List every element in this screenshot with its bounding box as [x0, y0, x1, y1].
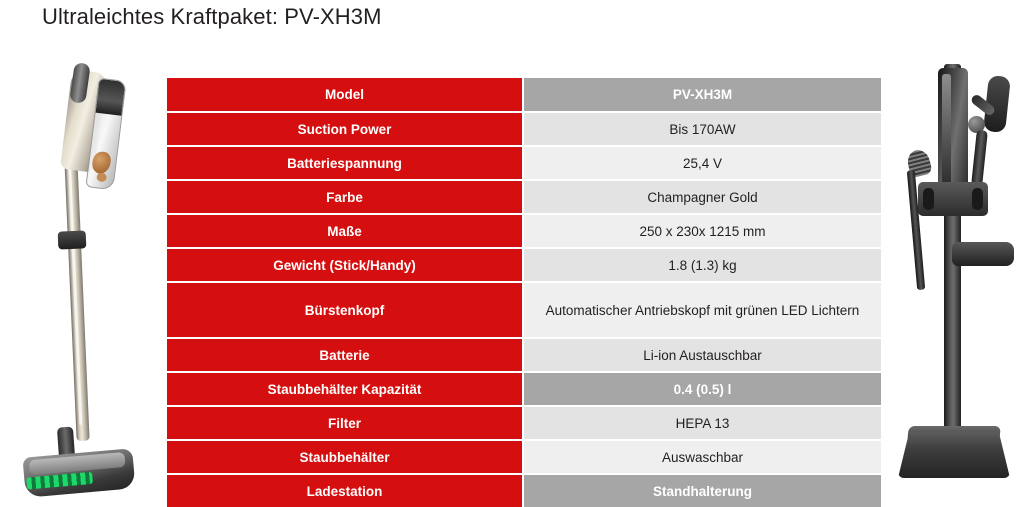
table-row: Model PV-XH3M: [167, 78, 881, 111]
accessory-mini-brush-head: [952, 242, 1014, 266]
row-value: Li-ion Austauschbar: [524, 339, 881, 371]
row-value: Automatischer Antriebskopf mit grünen LE…: [524, 283, 881, 337]
table-row: Staubbehälter Auswaschbar: [167, 441, 881, 473]
table-row: Bürstenkopf Automatischer Antriebskopf m…: [167, 283, 881, 337]
row-label: Model: [167, 78, 524, 111]
row-label: Suction Power: [167, 113, 524, 145]
motorized-brush-head: [22, 448, 135, 497]
row-label: Farbe: [167, 181, 524, 213]
row-label: Bürstenkopf: [167, 283, 524, 337]
row-label: Maße: [167, 215, 524, 247]
stick-vacuum-illustration: [18, 55, 148, 495]
row-value: PV-XH3M: [524, 78, 881, 111]
row-value: 0.4 (0.5) l: [524, 373, 881, 405]
accessory-arm-lower: [971, 130, 988, 187]
row-value: HEPA 13: [524, 407, 881, 439]
stand-bracket-clip-right: [972, 188, 983, 210]
table-row: Gewicht (Stick/Handy) 1.8 (1.3) kg: [167, 249, 881, 281]
stand-base: [898, 432, 1010, 478]
table-row: Ladestation Standhalterung: [167, 475, 881, 507]
vacuum-wand-tube: [64, 151, 90, 441]
table-row: Maße 250 x 230x 1215 mm: [167, 215, 881, 247]
table-row: Batterie Li-ion Austauschbar: [167, 339, 881, 371]
stand-bracket-clip-left: [923, 188, 934, 210]
row-value: 25,4 V: [524, 147, 881, 179]
product-image-right: [881, 0, 1024, 496]
table-row: Suction Power Bis 170AW: [167, 113, 881, 145]
docked-vacuum-slot: [942, 74, 951, 184]
dust-bin-debris-small: [96, 172, 107, 182]
dust-bin-cap: [96, 79, 126, 116]
row-label: Batterie: [167, 339, 524, 371]
charging-stand-illustration: [882, 34, 1020, 496]
table-row: Filter HEPA 13: [167, 407, 881, 439]
brush-head-top-cover: [29, 452, 126, 475]
table-row: Batteriespannung 25,4 V: [167, 147, 881, 179]
row-label: Batteriespannung: [167, 147, 524, 179]
row-label: Gewicht (Stick/Handy): [167, 249, 524, 281]
row-label: Filter: [167, 407, 524, 439]
table-row: Farbe Champagner Gold: [167, 181, 881, 213]
row-label: Ladestation: [167, 475, 524, 507]
row-value: 250 x 230x 1215 mm: [524, 215, 881, 247]
row-value: Bis 170AW: [524, 113, 881, 145]
product-image-left: [0, 0, 167, 496]
dust-bin-debris: [91, 151, 112, 175]
specification-table: Model PV-XH3M Suction Power Bis 170AW Ba…: [167, 78, 881, 507]
row-label: Staubbehälter Kapazität: [167, 373, 524, 405]
table-row: Staubbehälter Kapazität 0.4 (0.5) l: [167, 373, 881, 405]
vacuum-wand-collar: [58, 230, 87, 249]
row-value: Champagner Gold: [524, 181, 881, 213]
row-value: Auswaschbar: [524, 441, 881, 473]
row-value: 1.8 (1.3) kg: [524, 249, 881, 281]
row-value: Standhalterung: [524, 475, 881, 507]
row-label: Staubbehälter: [167, 441, 524, 473]
